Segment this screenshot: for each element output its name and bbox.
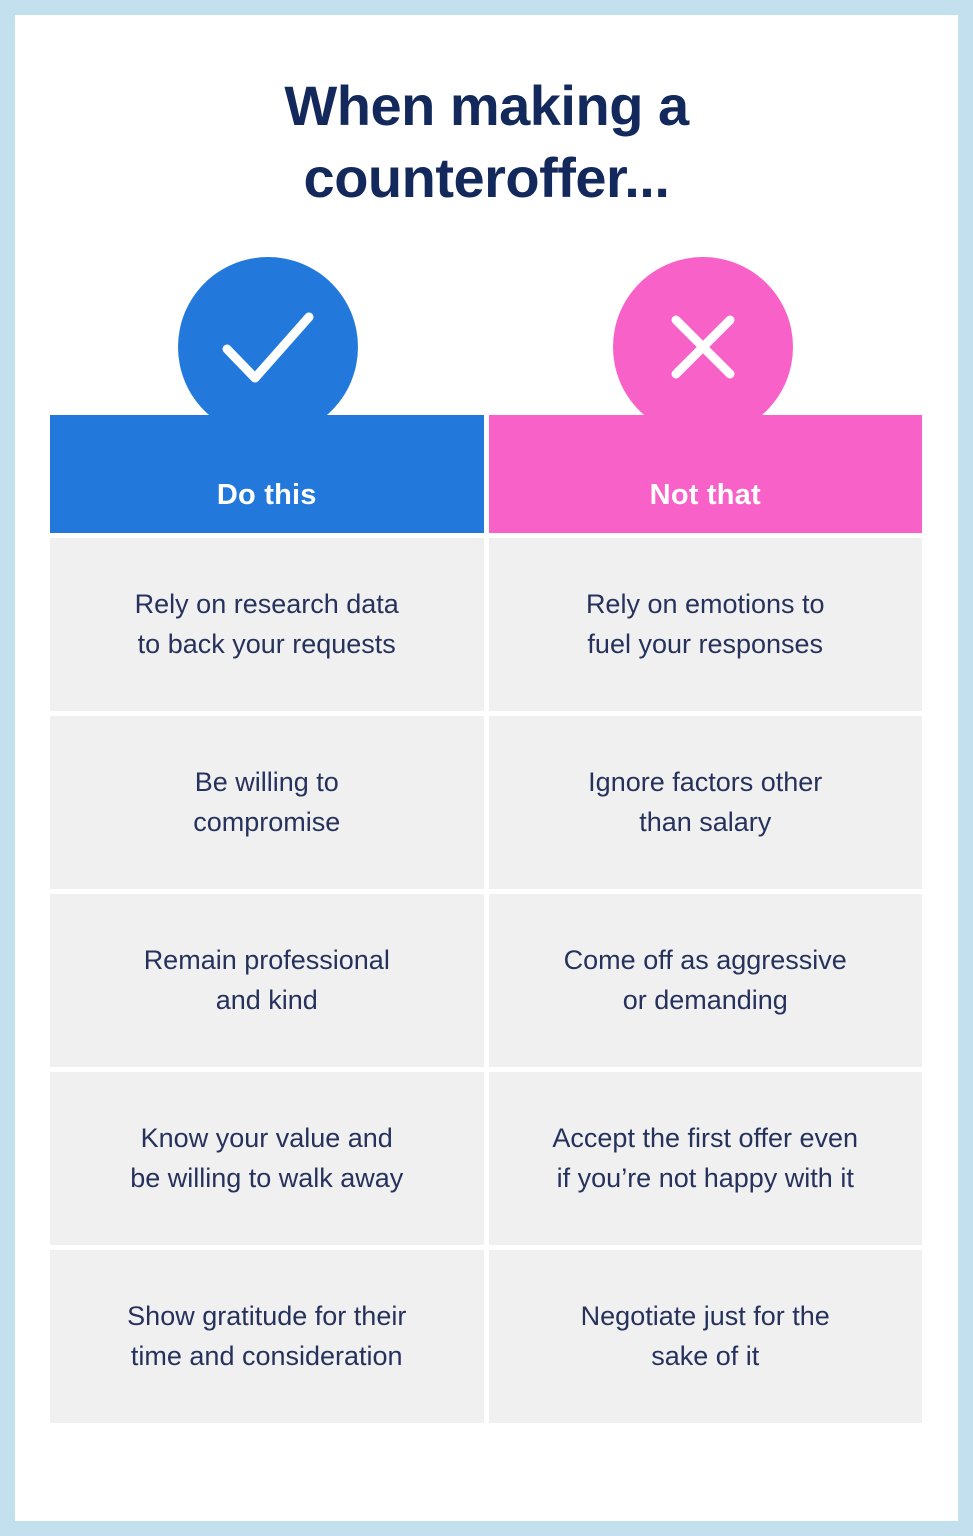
do-cell-line-1: Know your value and xyxy=(130,1119,403,1158)
page-title-line-1: When making a xyxy=(15,70,958,142)
page-title: When making a counteroffer... xyxy=(15,70,958,213)
do-cell-line-2: time and consideration xyxy=(127,1337,406,1376)
table-row: Be willing to compromise Ignore factors … xyxy=(50,716,922,889)
do-cell: Rely on research data to back your reque… xyxy=(50,538,484,711)
table-row: Know your value and be willing to walk a… xyxy=(50,1072,922,1245)
do-cell: Know your value and be willing to walk a… xyxy=(50,1072,484,1245)
not-cell-line-1: Come off as aggressive xyxy=(564,941,847,980)
not-cell: Accept the first offer even if you’re no… xyxy=(489,1072,923,1245)
cross-icon xyxy=(661,305,745,389)
not-cell-line-2: if you’re not happy with it xyxy=(552,1159,858,1198)
not-cell-line-1: Negotiate just for the xyxy=(581,1297,830,1336)
do-cell-line-1: Be willing to xyxy=(193,763,340,802)
table-row: Rely on research data to back your reque… xyxy=(50,538,922,711)
not-cell: Negotiate just for the sake of it xyxy=(489,1250,923,1423)
do-cell-line-2: compromise xyxy=(193,803,340,842)
table-row: Show gratitude for their time and consid… xyxy=(50,1250,922,1423)
comparison-table: Do this Not that Rely on research data t… xyxy=(50,415,922,1428)
do-cell-line-1: Rely on research data xyxy=(135,585,399,624)
table-row: Remain professional and kind Come off as… xyxy=(50,894,922,1067)
column-header-do-this: Do this xyxy=(50,415,484,533)
not-cell: Ignore factors other than salary xyxy=(489,716,923,889)
not-cell: Come off as aggressive or demanding xyxy=(489,894,923,1067)
not-cell-line-2: sake of it xyxy=(581,1337,830,1376)
page-title-line-2: counteroffer... xyxy=(15,142,958,214)
infographic-card: When making a counteroffer... Do this No… xyxy=(15,15,958,1521)
table-header-row: Do this Not that xyxy=(50,415,922,533)
do-cell: Be willing to compromise xyxy=(50,716,484,889)
not-cell-line-2: fuel your responses xyxy=(586,625,825,664)
column-header-not-that: Not that xyxy=(489,415,923,533)
do-cell-line-1: Show gratitude for their xyxy=(127,1297,406,1336)
do-cell-line-2: be willing to walk away xyxy=(130,1159,403,1198)
check-icon xyxy=(215,302,321,392)
do-icon-badge xyxy=(178,257,358,437)
not-cell-line-1: Rely on emotions to xyxy=(586,585,825,624)
not-cell-line-1: Ignore factors other xyxy=(588,763,822,802)
do-cell-line-2: and kind xyxy=(144,981,390,1020)
not-cell-line-1: Accept the first offer even xyxy=(552,1119,858,1158)
not-cell: Rely on emotions to fuel your responses xyxy=(489,538,923,711)
do-cell-line-1: Remain professional xyxy=(144,941,390,980)
do-cell: Remain professional and kind xyxy=(50,894,484,1067)
dont-icon-badge xyxy=(613,257,793,437)
not-cell-line-2: than salary xyxy=(588,803,822,842)
do-cell: Show gratitude for their time and consid… xyxy=(50,1250,484,1423)
not-cell-line-2: or demanding xyxy=(564,981,847,1020)
do-cell-line-2: to back your requests xyxy=(135,625,399,664)
